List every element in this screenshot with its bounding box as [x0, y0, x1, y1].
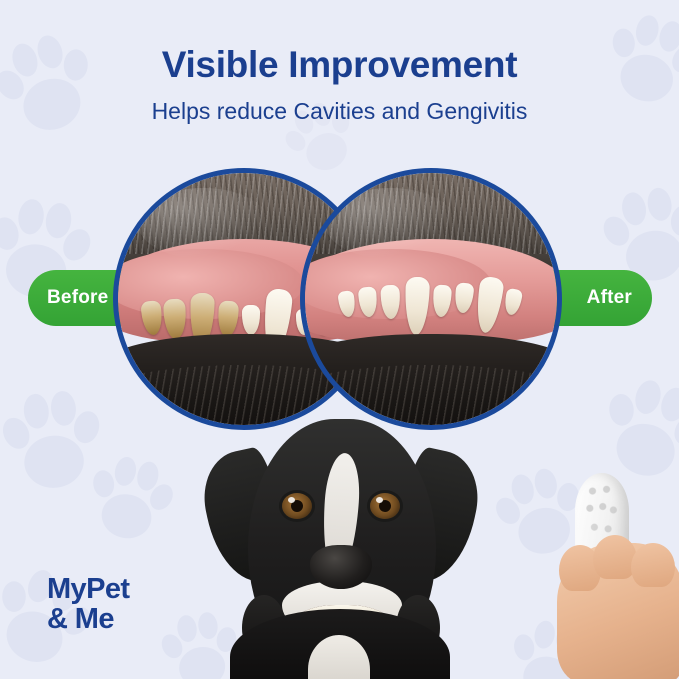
brand-logo-line1: MyPet: [47, 575, 129, 605]
page-title: Visible Improvement: [0, 44, 679, 86]
brand-logo: MyPet & Me: [47, 575, 129, 634]
dog-eye-highlight: [288, 497, 295, 503]
after-photo: [300, 168, 562, 430]
after-photo-inner: [305, 173, 557, 425]
hand-knuckle: [593, 535, 637, 579]
paw-print-icon: [68, 438, 191, 561]
photo-glare: [138, 188, 269, 259]
after-label: After: [587, 287, 632, 309]
dog-eye-highlight: [376, 497, 383, 503]
dog-photo: [196, 419, 486, 679]
brand-logo-line2: & Me: [47, 605, 129, 635]
hand-with-finger-toothbrush: [553, 473, 679, 679]
promo-image-canvas: Visible Improvement Helps reduce Cavitie…: [0, 0, 679, 679]
photo-glare: [325, 188, 456, 259]
paw-print-icon: [0, 374, 120, 510]
before-label: Before: [47, 287, 108, 309]
lower-lip-fur: [305, 365, 557, 425]
dog-eye-left: [282, 493, 312, 519]
hand-knuckle: [631, 543, 675, 587]
page-subtitle: Helps reduce Cavities and Gengivitis: [0, 98, 679, 125]
paw-print-icon: [0, 10, 122, 161]
dog-eye-right: [370, 493, 400, 519]
